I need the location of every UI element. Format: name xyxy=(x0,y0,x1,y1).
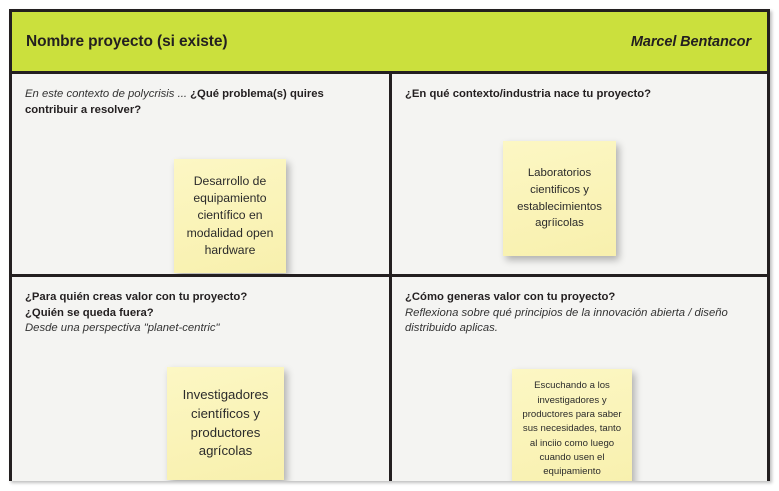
canvas-board: Nombre proyecto (si existe) Marcel Benta… xyxy=(9,9,770,481)
prompt-top-left: En este contexto de polycrisis ... ¿Qué … xyxy=(25,87,375,118)
prompt-bottom-left: ¿Para quién creas valor con tu proyecto?… xyxy=(25,290,375,337)
quadrant-bottom-right[interactable]: ¿Cómo generas valor con tu proyecto? Ref… xyxy=(392,277,767,481)
prompt-top-right-bold: ¿En qué contexto/industria nace tu proye… xyxy=(405,88,651,100)
prompt-bottom-right: ¿Cómo generas valor con tu proyecto? Ref… xyxy=(405,290,753,337)
sticky-note-bottom-left[interactable]: Investigadores científicos y productores… xyxy=(167,367,284,480)
sticky-note-top-left-text: Desarrollo de equipamiento científico en… xyxy=(181,173,279,260)
prompt-bottom-left-subtitle: Desde una perspectiva "planet-centric" xyxy=(25,321,375,337)
project-name-title: Nombre proyecto (si existe) xyxy=(26,33,227,51)
quadrant-top-right[interactable]: ¿En qué contexto/industria nace tu proye… xyxy=(392,74,767,274)
sticky-note-top-right-text: Laboratorios cientificos y establecimien… xyxy=(510,165,609,231)
canvas: Nombre proyecto (si existe) Marcel Benta… xyxy=(0,0,779,491)
sticky-note-bottom-right-text: Escuchando a los investigadores y produc… xyxy=(518,379,626,480)
horizontal-divider xyxy=(12,274,767,277)
quadrant-bottom-left[interactable]: ¿Para quién creas valor con tu proyecto?… xyxy=(12,277,389,481)
author-name: Marcel Bentancor xyxy=(631,34,755,50)
quadrant-grid: En este contexto de polycrisis ... ¿Qué … xyxy=(12,74,767,481)
prompt-bottom-left-bold-1: ¿Para quién creas valor con tu proyecto? xyxy=(25,290,375,306)
quadrant-top-left[interactable]: En este contexto de polycrisis ... ¿Qué … xyxy=(12,74,389,274)
sticky-note-top-left[interactable]: Desarrollo de equipamiento científico en… xyxy=(174,159,286,273)
prompt-bottom-right-subtitle: Reflexiona sobre qué principios de la in… xyxy=(405,306,753,337)
vertical-divider xyxy=(389,74,392,481)
prompt-bottom-left-bold-2: ¿Quién se queda fuera? xyxy=(25,306,375,322)
prompt-top-right: ¿En qué contexto/industria nace tu proye… xyxy=(405,87,753,103)
sticky-note-top-right[interactable]: Laboratorios cientificos y establecimien… xyxy=(503,141,616,256)
sticky-note-bottom-left-text: Investigadores científicos y productores… xyxy=(172,386,279,461)
sticky-note-bottom-right[interactable]: Escuchando a los investigadores y produc… xyxy=(512,369,632,481)
prompt-bottom-right-bold: ¿Cómo generas valor con tu proyecto? xyxy=(405,290,753,306)
board-header: Nombre proyecto (si existe) Marcel Benta… xyxy=(12,12,767,74)
prompt-top-left-italic: En este contexto de polycrisis ... xyxy=(25,88,190,100)
